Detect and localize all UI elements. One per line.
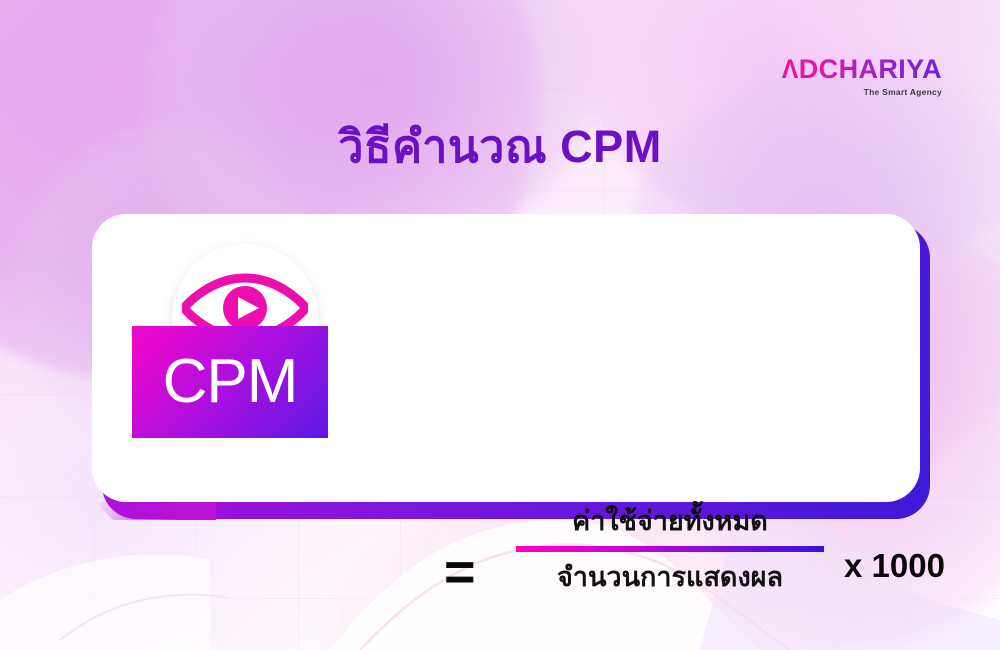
multiplier-label: x 1000 (844, 549, 945, 582)
poster-canvas: ΛDCHARIYA The Smart Agency วิธีคำนวณ CPM… (0, 0, 1000, 650)
fraction-bar (516, 546, 824, 552)
fraction-numerator: ค่าใช้จ่ายทั้งหมด (516, 506, 824, 538)
page-title: วิธีคำนวณ CPM (0, 122, 1000, 172)
cpm-label-box: CPM (132, 326, 328, 438)
logo-tagline: The Smart Agency (781, 88, 942, 97)
equals-sign: = (444, 545, 476, 599)
cpm-badge-group: CPM (120, 230, 360, 460)
cpm-label: CPM (163, 351, 298, 413)
fraction-denominator: จำนวนการแสดงผล (516, 562, 824, 594)
brand-logo: ΛDCHARIYA The Smart Agency (781, 56, 942, 97)
formula-fraction: ค่าใช้จ่ายทั้งหมด จำนวนการแสดงผล (516, 506, 824, 594)
formula-card: CPM = ค่าใช้จ่ายทั้งหมด จำนวนการแสดงผล x… (92, 214, 920, 502)
formula-card-wrapper: CPM = ค่าใช้จ่ายทั้งหมด จำนวนการแสดงผล x… (92, 214, 930, 519)
logo-wordmark: ΛDCHARIYA (781, 56, 942, 83)
logo-a-mark: Λ (781, 56, 798, 83)
logo-word: DCHARIYA (799, 56, 942, 83)
